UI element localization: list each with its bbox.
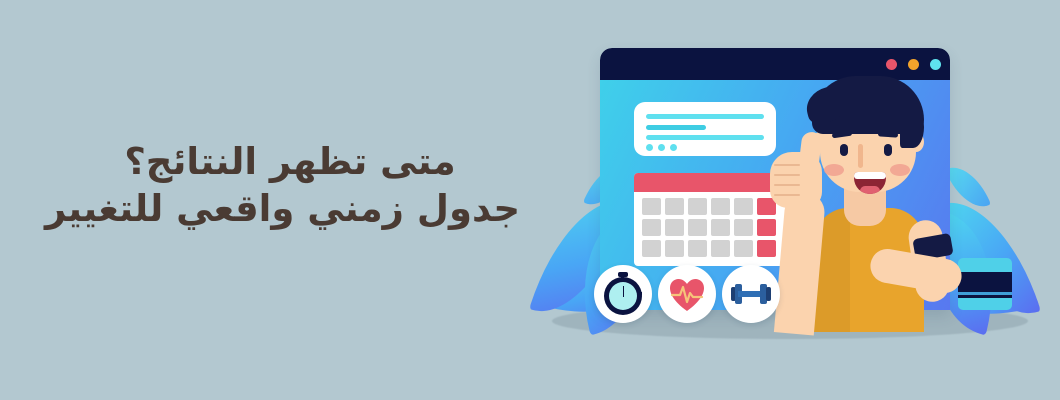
calendar-cell [688, 219, 707, 236]
calendar-cell [642, 240, 661, 257]
badge-dumbbell [722, 265, 780, 323]
text-line-placeholder [646, 125, 706, 130]
dumbbell-cap [766, 287, 771, 301]
calendar-cell [688, 240, 707, 257]
calendar-cell [642, 198, 661, 215]
banner-root: متى تظهر النتائج؟ جدول زمني واقعي للتغيي… [0, 0, 1060, 400]
stopwatch-hand [623, 286, 625, 297]
calendar-cell [665, 240, 684, 257]
calendar-cell [711, 219, 730, 236]
character-cheek [824, 164, 844, 176]
character-illustration [762, 40, 992, 318]
illustration [530, 20, 1050, 360]
character-hair-side [900, 102, 924, 148]
text-line-placeholder [646, 114, 764, 119]
calendar-cell [711, 240, 730, 257]
calendar-cell [665, 198, 684, 215]
character-teeth [854, 172, 886, 179]
calendar-grid [642, 198, 776, 257]
stopwatch-face [609, 282, 637, 310]
character-knuckle [774, 174, 800, 176]
calendar-cell [734, 198, 753, 215]
calendar-cell [642, 219, 661, 236]
character-knuckle [774, 164, 800, 166]
stopwatch-icon [604, 277, 642, 315]
headline-line-2: جدول زمني واقعي للتغيير [60, 185, 520, 232]
headline-line-1: متى تظهر النتائج؟ [60, 138, 520, 185]
page-title: متى تظهر النتائج؟ جدول زمني واقعي للتغيي… [60, 138, 520, 233]
badge-heart-rate [658, 265, 716, 323]
character-cheek [890, 164, 910, 176]
character-knuckle [774, 184, 800, 186]
content-card [634, 102, 776, 156]
badge-stopwatch [594, 265, 652, 323]
character-nose [858, 144, 863, 168]
text-line-placeholder [646, 135, 764, 140]
calendar-cell [711, 198, 730, 215]
character-tongue [860, 186, 880, 194]
calendar-cell [665, 219, 684, 236]
bullet-dot-icon [646, 144, 653, 151]
calendar-cell [688, 198, 707, 215]
character-eye [884, 144, 892, 156]
character-knuckle [774, 194, 800, 196]
bullet-dot-icon [670, 144, 677, 151]
fitness-tracker-strap [958, 292, 1012, 295]
character-eye [840, 144, 848, 156]
calendar-cell [734, 240, 753, 257]
calendar-cell [734, 219, 753, 236]
heart-rate-icon [669, 278, 705, 312]
bullet-dot-icon [658, 144, 665, 151]
